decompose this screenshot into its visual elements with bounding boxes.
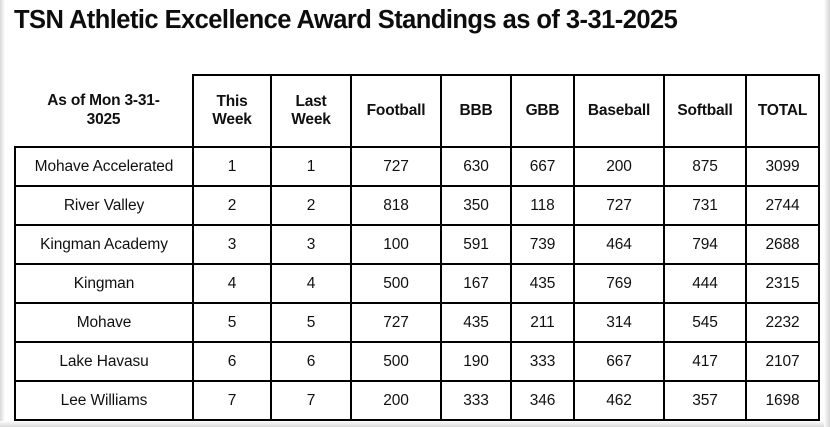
cell-gbb-highlighted: 739: [511, 225, 574, 264]
header-as-of-label: As of Mon 3-31- 3025: [15, 75, 193, 147]
cell-bbb-highlighted: 630: [441, 147, 511, 186]
header-last-week-line2: Week: [291, 111, 330, 128]
cell-this-week: 6: [193, 342, 271, 381]
cell-baseball: 314: [574, 303, 664, 342]
cell-gbb: 333: [511, 342, 574, 381]
header-last-week-line1: Last: [295, 93, 326, 110]
header-gbb: GBB: [511, 75, 574, 147]
cell-last-week: 6: [271, 342, 351, 381]
cell-total: 1698: [746, 381, 819, 420]
cell-football: 727: [351, 303, 441, 342]
as-of-line-2: 3025: [21, 111, 186, 129]
cell-softball: 545: [664, 303, 746, 342]
header-row: As of Mon 3-31- 3025 This Week Last Week…: [15, 75, 819, 147]
standings-table: As of Mon 3-31- 3025 This Week Last Week…: [14, 74, 820, 421]
cell-gbb: 211: [511, 303, 574, 342]
cell-last-week: 1: [271, 147, 351, 186]
header-baseball: Baseball: [574, 75, 664, 147]
cell-football-highlighted: 818: [351, 186, 441, 225]
cell-this-week: 2: [193, 186, 271, 225]
page-title: TSN Athletic Excellence Award Standings …: [14, 6, 814, 35]
header-this-week: This Week: [193, 75, 271, 147]
cell-gbb: 118: [511, 186, 574, 225]
cell-baseball: 462: [574, 381, 664, 420]
cell-this-week: 3: [193, 225, 271, 264]
cell-gbb: 346: [511, 381, 574, 420]
table-row: Kingman Academy331005917394647942688: [15, 225, 819, 264]
table-row: Kingman445001674357694442315: [15, 264, 819, 303]
cell-baseball: 727: [574, 186, 664, 225]
cell-total: 2232: [746, 303, 819, 342]
cell-this-week: 5: [193, 303, 271, 342]
cell-bbb: 167: [441, 264, 511, 303]
table-row: River Valley228183501187277312744: [15, 186, 819, 225]
cell-this-week: 4: [193, 264, 271, 303]
cell-last-week: 5: [271, 303, 351, 342]
cell-softball: 731: [664, 186, 746, 225]
cell-total: 2744: [746, 186, 819, 225]
header-this-week-line1: This: [216, 93, 247, 110]
cell-bbb: 350: [441, 186, 511, 225]
cell-bbb: 435: [441, 303, 511, 342]
header-softball: Softball: [664, 75, 746, 147]
cell-softball: 794: [664, 225, 746, 264]
header-this-week-line2: Week: [212, 111, 251, 128]
cell-baseball-highlighted: 769: [574, 264, 664, 303]
cell-last-week: 3: [271, 225, 351, 264]
cell-gbb: 667: [511, 147, 574, 186]
cell-softball-highlighted: 875: [664, 147, 746, 186]
table-row: Mohave557274352113145452232: [15, 303, 819, 342]
cell-total-highlighted: 3099: [746, 147, 819, 186]
header-football: Football: [351, 75, 441, 147]
cell-baseball: 200: [574, 147, 664, 186]
cell-football: 500: [351, 342, 441, 381]
table-row: Mohave Accelerated117276306672008753099: [15, 147, 819, 186]
team-name-cell: Mohave: [15, 303, 193, 342]
cell-last-week: 7: [271, 381, 351, 420]
cell-bbb: 591: [441, 225, 511, 264]
team-name-cell: River Valley: [15, 186, 193, 225]
cell-this-week: 1: [193, 147, 271, 186]
header-total: TOTAL: [746, 75, 819, 147]
team-name-cell: Kingman Academy: [15, 225, 193, 264]
document-bottom-edge: [0, 421, 830, 427]
cell-last-week: 4: [271, 264, 351, 303]
cell-football: 200: [351, 381, 441, 420]
table-row: Lee Williams772003333464623571698: [15, 381, 819, 420]
cell-last-week: 2: [271, 186, 351, 225]
as-of-line-1: As of Mon 3-31-: [21, 92, 186, 110]
cell-total: 2107: [746, 342, 819, 381]
cell-softball: 357: [664, 381, 746, 420]
cell-baseball: 667: [574, 342, 664, 381]
team-name-cell: Lake Havasu: [15, 342, 193, 381]
cell-softball: 417: [664, 342, 746, 381]
team-name-cell: Lee Williams: [15, 381, 193, 420]
table-row: Lake Havasu665001903336674172107: [15, 342, 819, 381]
team-name-cell: Kingman: [15, 264, 193, 303]
cell-football: 100: [351, 225, 441, 264]
table-header: As of Mon 3-31- 3025 This Week Last Week…: [15, 75, 819, 147]
cell-bbb: 190: [441, 342, 511, 381]
cell-this-week: 7: [193, 381, 271, 420]
document-page: TSN Athletic Excellence Award Standings …: [0, 0, 830, 427]
cell-football: 500: [351, 264, 441, 303]
cell-football: 727: [351, 147, 441, 186]
cell-gbb: 435: [511, 264, 574, 303]
cell-total: 2315: [746, 264, 819, 303]
cell-total: 2688: [746, 225, 819, 264]
header-bbb: BBB: [441, 75, 511, 147]
cell-bbb: 333: [441, 381, 511, 420]
cell-softball: 444: [664, 264, 746, 303]
cell-baseball: 464: [574, 225, 664, 264]
table-body: Mohave Accelerated117276306672008753099R…: [15, 147, 819, 420]
header-last-week: Last Week: [271, 75, 351, 147]
team-name-cell: Mohave Accelerated: [15, 147, 193, 186]
